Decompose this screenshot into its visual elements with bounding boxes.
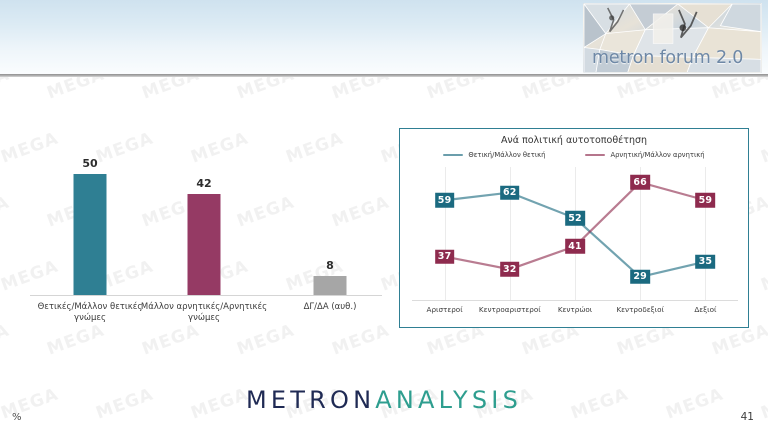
page-number: 41 <box>741 411 754 423</box>
line-chart-series-svg <box>412 167 712 317</box>
data-point-label[interactable]: 52 <box>565 211 585 226</box>
slide-canvas: MEGAMEGAMEGAMEGAMEGAMEGAMEGAMEGAMEGAMEGA… <box>0 0 768 431</box>
bar-column[interactable]: 8 <box>314 276 347 295</box>
x-axis-label: Αριστεροί <box>427 305 463 314</box>
x-axis-label: Κεντρώοι <box>558 305 592 314</box>
bar-chart-opinion-distribution: 50428 Θετικές/Μάλλον θετικές γνώμεςΜάλλο… <box>8 150 390 330</box>
logo-metron-text: METRON <box>246 386 375 414</box>
bar-column[interactable]: 42 <box>188 194 221 296</box>
x-axis-label: Κεντροαριστεροί <box>479 305 541 314</box>
legend-item-1[interactable]: Αρνητική/Μάλλον αρνητική <box>585 151 704 159</box>
data-point-label[interactable]: 35 <box>696 254 716 269</box>
bar-value-label: 8 <box>326 259 334 272</box>
bar-group: 42 <box>150 150 258 295</box>
data-point-label[interactable]: 66 <box>630 175 650 190</box>
header-divider <box>0 74 768 77</box>
line-chart-panel-political-self-placement: Ανά πολιτική αυτοτοποθέτηση Θετική/Μάλλο… <box>399 128 749 328</box>
data-point-label[interactable]: 59 <box>435 193 455 208</box>
bar-group: 8 <box>276 150 384 295</box>
data-point-label[interactable]: 37 <box>435 249 455 264</box>
bar-group: 50 <box>36 150 144 295</box>
bar-column[interactable]: 50 <box>74 174 107 295</box>
bar-value-label: 50 <box>82 157 97 170</box>
data-point-label[interactable]: 41 <box>565 239 585 254</box>
x-axis-label: Δεξιοί <box>694 305 716 314</box>
watermark-text: MEGA <box>758 128 768 167</box>
bar-category-label: Μάλλον αρνητικές/Αρνητικές γνώμες <box>139 302 269 325</box>
x-axis-label: Κεντροδεξιοί <box>616 305 663 314</box>
line-chart-axis-line <box>412 300 738 301</box>
grid-line-vertical <box>575 167 576 300</box>
data-point-label[interactable]: 32 <box>500 262 520 277</box>
metron-forum-logo: metron forum 2.0 <box>583 3 762 73</box>
line-chart-title: Ανά πολιτική αυτοτοποθέτηση <box>400 135 748 146</box>
line-chart-plot-area: 59625229353732416659 <box>412 167 738 300</box>
data-point-label[interactable]: 29 <box>630 270 650 285</box>
legend-item-0[interactable]: Θετική/Μάλλον θετική <box>443 151 545 159</box>
line-chart-legend: Θετική/Μάλλον θετικήΑρνητική/Μάλλον αρνη… <box>400 151 748 159</box>
bar-category-label: Θετικές/Μάλλον θετικές γνώμες <box>25 302 155 325</box>
data-point-label[interactable]: 59 <box>696 193 716 208</box>
data-point-label[interactable]: 62 <box>500 185 520 200</box>
bar-value-label: 42 <box>196 177 211 190</box>
bar-chart-plot-area: 50428 <box>30 150 378 295</box>
forum-logo-text: metron forum 2.0 <box>592 48 743 68</box>
bar-category-label: ΔΓ/ΔΑ (αυθ.) <box>265 302 395 313</box>
metron-analysis-logo: METRONANALYSIS <box>0 386 768 414</box>
grid-line-vertical <box>705 167 706 300</box>
watermark-text: MEGA <box>758 256 768 295</box>
bar-chart-axis-line <box>30 295 382 296</box>
grid-line-vertical <box>445 167 446 300</box>
legend-swatch <box>585 154 605 157</box>
legend-swatch <box>443 154 463 157</box>
logo-analysis-text: ANALYSIS <box>375 386 522 414</box>
line-chart-x-axis-labels: ΑριστεροίΚεντροαριστεροίΚεντρώοιΚεντροδε… <box>412 305 738 323</box>
percent-unit-label: % <box>12 412 22 423</box>
legend-label: Θετική/Μάλλον θετική <box>468 151 545 159</box>
legend-label: Αρνητική/Μάλλον αρνητική <box>610 151 704 159</box>
